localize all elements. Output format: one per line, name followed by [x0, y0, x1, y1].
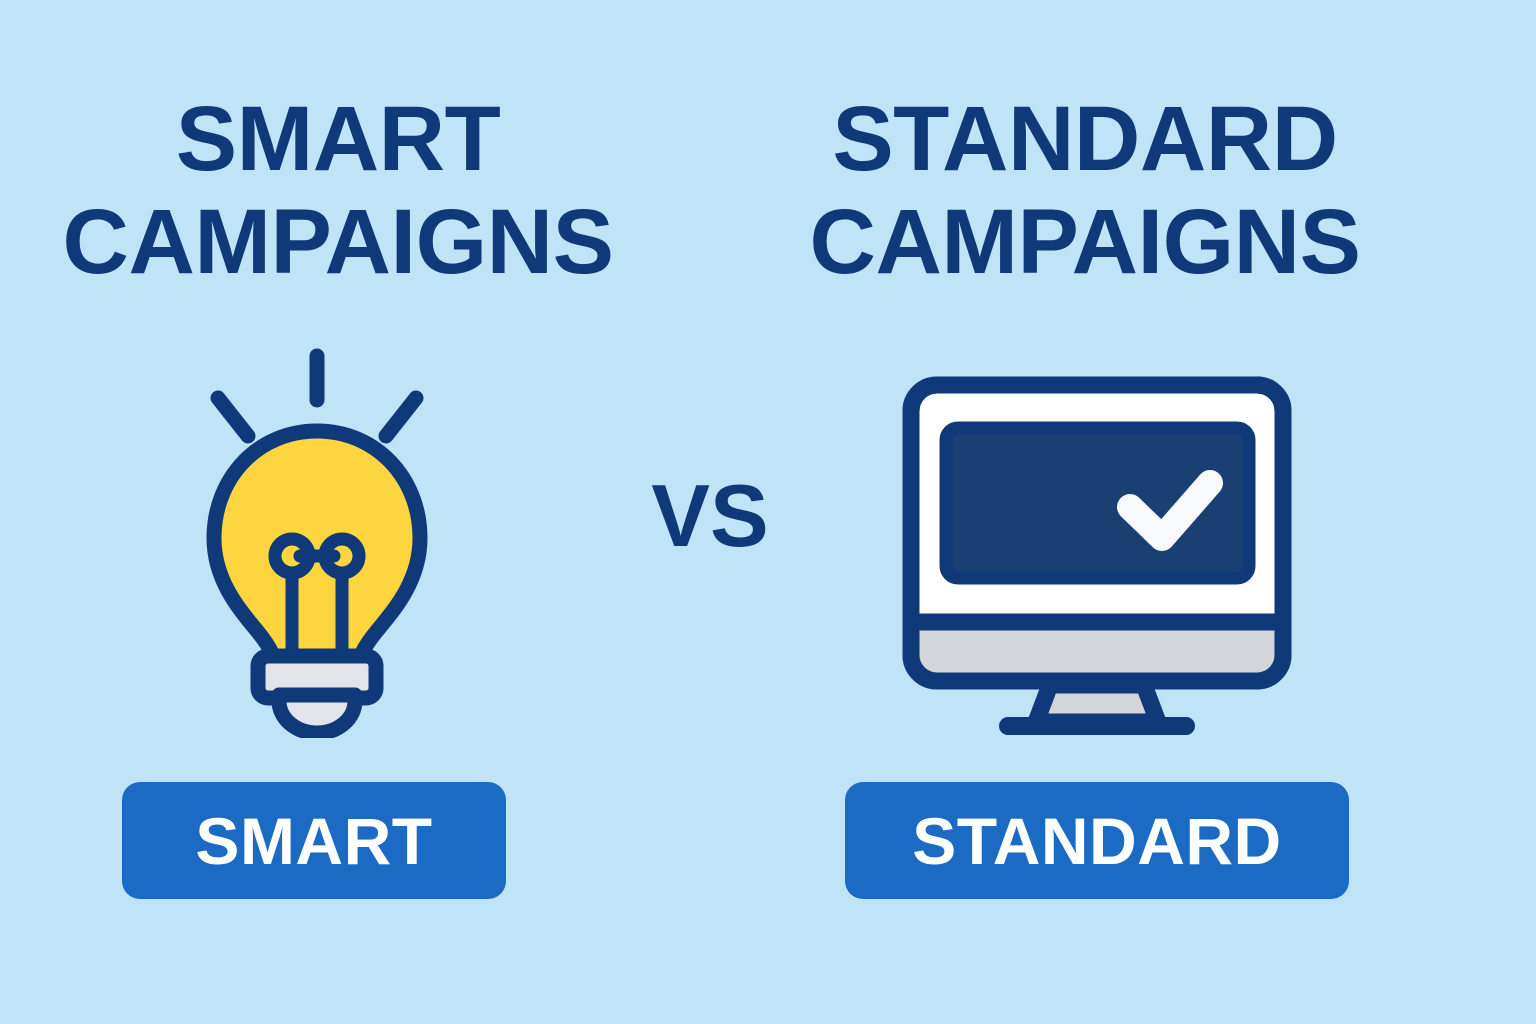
desktop-monitor-checkmark-icon — [880, 360, 1300, 740]
smart-button-label: SMART — [195, 803, 432, 879]
smart-button[interactable]: SMART — [122, 782, 506, 899]
comparison-graphic: SMART CAMPAIGNS — [0, 0, 1536, 1024]
versus-label: VS — [610, 472, 810, 560]
left-panel-heading: SMART CAMPAIGNS — [18, 88, 658, 294]
standard-button[interactable]: STANDARD — [845, 782, 1349, 899]
lightbulb-icon — [176, 338, 466, 738]
standard-button-label: STANDARD — [912, 803, 1281, 879]
right-panel-heading: STANDARD CAMPAIGNS — [760, 88, 1410, 294]
